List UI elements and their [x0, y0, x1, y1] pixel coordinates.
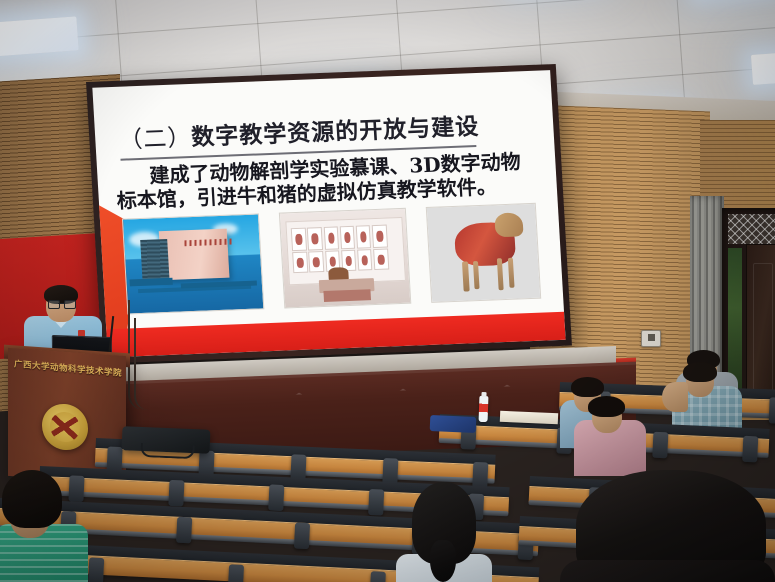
seat-bracket [652, 432, 668, 459]
attendee-shoulder [560, 560, 775, 582]
presenter-glasses-icon [48, 300, 74, 307]
seat-bracket [168, 480, 184, 507]
door-lattice-grille-icon [728, 214, 775, 244]
seat-bracket [769, 397, 775, 424]
screen-bezel: （二）数字教学资源的开放与建设 建成了动物解剖学实验慕课、3D数字动物标本馆，引… [86, 64, 572, 364]
attendee-hair [571, 377, 604, 397]
seat-bracket [742, 436, 758, 463]
attendee-arm [662, 382, 688, 412]
water-bottle [479, 396, 489, 422]
seat-bracket [228, 564, 244, 582]
hall-caption-plate [323, 289, 371, 302]
seat-bracket [368, 489, 384, 516]
ceiling-light [751, 49, 775, 85]
entrance-door[interactable] [746, 244, 775, 410]
seat-bracket [68, 475, 84, 502]
wall-switch-plate[interactable] [641, 330, 661, 347]
attendee-ponytail-tail [430, 540, 456, 582]
blue-bag [430, 415, 477, 433]
attendee-hair [2, 470, 62, 528]
attendee-hair [588, 396, 625, 417]
seat-bracket [370, 571, 386, 582]
slide-image-row [122, 203, 541, 315]
slide-image-specimen-hall [279, 208, 411, 309]
lecture-hall-photo: （二）数字教学资源的开放与建设 建成了动物解剖学实验慕课、3D数字动物标本馆，引… [0, 0, 775, 582]
seat-bracket [294, 522, 310, 549]
slide-title-text: 数字教学资源的开放与建设 [191, 113, 480, 151]
presentation-screen[interactable]: （二）数字教学资源的开放与建设 建成了动物解剖学实验慕课、3D数字动物标本馆，引… [86, 64, 572, 364]
laptop-bag [122, 426, 211, 454]
slide-surface: （二）数字教学资源的开放与建设 建成了动物解剖学实验慕课、3D数字动物标本馆，引… [92, 70, 565, 357]
seat-bracket [176, 517, 192, 544]
attendee-hair [683, 362, 717, 382]
seat-bracket [472, 462, 488, 489]
cable [134, 318, 148, 410]
seat-bracket [268, 484, 284, 511]
seat-bracket [88, 557, 104, 582]
ceiling-light [0, 16, 79, 57]
slide-image-anatomy-model [426, 203, 542, 303]
slide-section-number: （二） [119, 125, 192, 154]
